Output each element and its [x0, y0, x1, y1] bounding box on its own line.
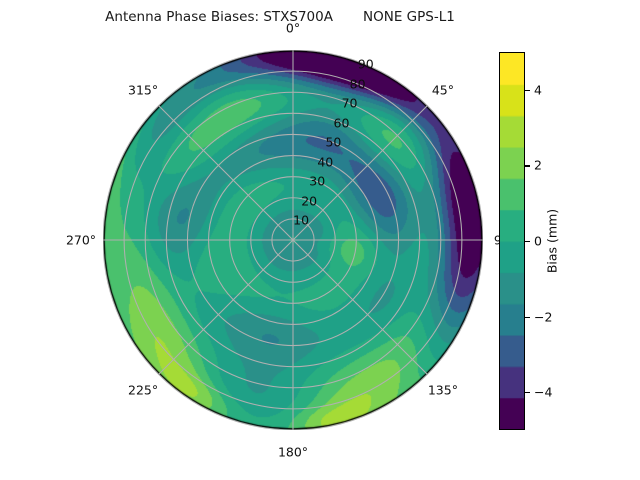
grid-spoke [293, 106, 427, 240]
radial-tick-80: 80 [350, 76, 366, 91]
figure-canvas: Antenna Phase Biases: STXS700A NONE GPS-… [0, 0, 640, 480]
polar-axes[interactable] [103, 50, 483, 430]
colorbar-tick-mark [525, 165, 530, 166]
radial-tick-60: 60 [334, 115, 350, 130]
colorbar-tick-mark [525, 241, 530, 242]
radial-tick-40: 40 [317, 154, 333, 169]
colorbar-axis-label: Bias (mm) [545, 209, 560, 273]
colorbar-tick-mark [525, 90, 530, 91]
radial-tick-10: 10 [293, 213, 309, 228]
angular-tick-0: 0° [286, 21, 300, 36]
radial-tick-50: 50 [325, 135, 341, 150]
radial-tick-70: 70 [342, 96, 358, 111]
angular-tick-180: 180° [278, 445, 308, 460]
grid-spoke [159, 240, 293, 374]
chart-title: Antenna Phase Biases: STXS700A NONE GPS-… [0, 9, 560, 25]
colorbar-tick-label: 4 [534, 82, 542, 97]
angular-tick-135: 135° [428, 382, 458, 397]
colorbar-gradient [499, 52, 525, 430]
colorbar-tick-label: −4 [534, 385, 552, 400]
radial-tick-20: 20 [301, 193, 317, 208]
radial-tick-30: 30 [309, 174, 325, 189]
angular-tick-45: 45° [432, 83, 454, 98]
radial-tick-90: 90 [358, 57, 374, 72]
angular-tick-225: 225° [128, 382, 158, 397]
colorbar[interactable]: −4−2024 [499, 52, 525, 430]
colorbar-tick-label: −2 [534, 309, 552, 324]
grid-spoke [159, 106, 293, 240]
angular-tick-270: 270° [66, 233, 96, 248]
angular-tick-315: 315° [128, 83, 158, 98]
colorbar-tick-mark [525, 392, 530, 393]
polar-grid [103, 50, 483, 430]
grid-spoke [293, 240, 427, 374]
colorbar-tick-mark [525, 317, 530, 318]
colorbar-tick-label: 0 [534, 234, 542, 249]
colorbar-tick-label: 2 [534, 158, 542, 173]
